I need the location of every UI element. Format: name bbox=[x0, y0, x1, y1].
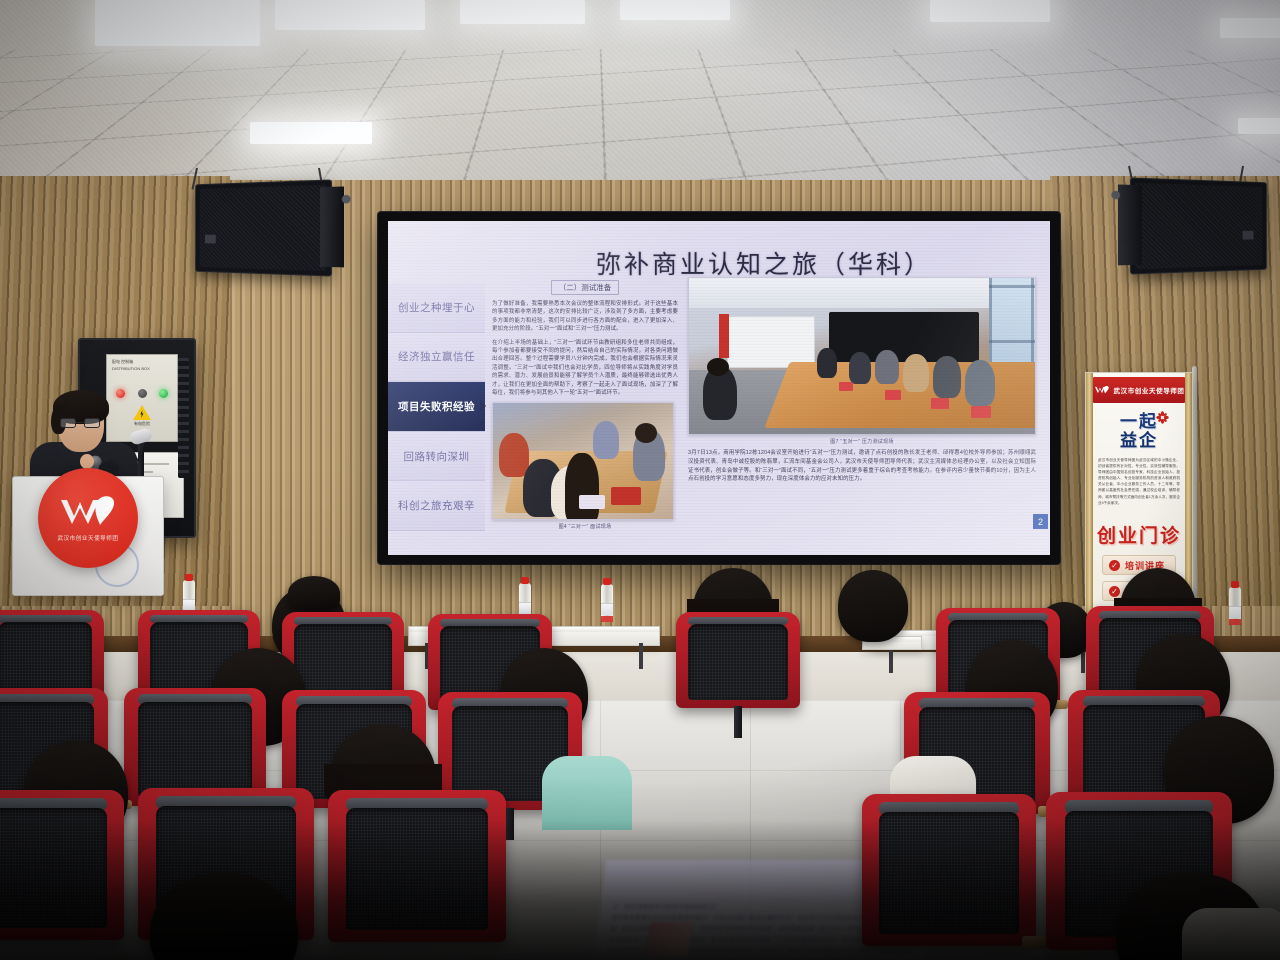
slide-paragraph-1: 为了做好准备，我需要熟悉本次会议的整体流程和安排形式。对于这些基本的事项我都非常… bbox=[492, 300, 678, 334]
auditorium-seat[interactable] bbox=[862, 794, 1036, 946]
slide-left-column: （二）测试准备 为了做好准备，我需要熟悉本次会议的整体流程和安排形式。对于这些基… bbox=[492, 277, 678, 530]
slide-paragraph-2: 在介绍上半场的基础上，“三对一”面试环节由教研组和多位老师共同组成，每个参加者都… bbox=[492, 339, 678, 398]
ceiling-light-panel bbox=[620, 0, 730, 20]
reflection-photo bbox=[646, 922, 692, 956]
check-circle-icon: ✓ bbox=[1109, 586, 1120, 597]
w-angel-wings-icon bbox=[57, 494, 119, 530]
audience-shoulder-teal bbox=[542, 756, 632, 830]
slide-surface: 弥补商业认知之旅（华科） 创业之种埋于心 经济独立赢信任 项目失败积经验 回路转… bbox=[388, 221, 1050, 555]
ceiling-light-panel bbox=[275, 0, 425, 30]
running-indicator bbox=[159, 389, 168, 398]
slide-footer-paragraph: 3月7日13点，商用学院12栋1204会议室开始进行“五对一”压力测试，邀请了点… bbox=[688, 449, 1036, 484]
slide-section-tag: （二）测试准备 bbox=[551, 280, 620, 295]
slide-photo-a-caption: 图4 “三对一” 面试现场 bbox=[492, 523, 678, 530]
banner-hero-line-2: 益企 bbox=[1120, 431, 1158, 450]
slide-photo-roundtable bbox=[492, 402, 674, 520]
banner-edge-left bbox=[1086, 373, 1093, 631]
banner-w-logo-icon bbox=[1094, 385, 1110, 395]
slide-nav-item-4[interactable]: 科创之旅充艰辛 bbox=[388, 481, 485, 531]
slide-nav-item-2[interactable]: 项目失败积经验 bbox=[388, 382, 485, 432]
cabinet-panel-subtitle: DISTRIBUTION BOX bbox=[112, 366, 150, 372]
lecture-hall-scene: 3月7日13点，商用学院12栋1204会议室开始进行“五对一”压力测试，邀请了点… bbox=[0, 0, 1280, 960]
banner-org-name: 武汉市创业天使导师团 bbox=[1114, 385, 1185, 395]
banner-body-text: 武汉市创业天使导师团为武汉区域的中小微企业、初创者提供有针对性、专业性、实效性辅… bbox=[1098, 457, 1180, 515]
ceiling-light-panel bbox=[1238, 118, 1280, 134]
slide-page-number: 2 bbox=[1033, 514, 1048, 529]
check-circle-icon: ✓ bbox=[1109, 560, 1120, 571]
ceiling-light-panel bbox=[95, 0, 260, 46]
slide-nav-item-3[interactable]: 回路转向深圳 bbox=[388, 432, 485, 482]
slide-photo-b-caption: 图7 “五对一” 压力测试现场 bbox=[688, 438, 1036, 445]
projection-screen[interactable]: 弥补商业认知之旅（华科） 创业之种埋于心 经济独立赢信任 项目失败积经验 回路转… bbox=[378, 212, 1060, 564]
cabinet-panel-title: 配电 控制箱 bbox=[112, 359, 133, 365]
auditorium-seat[interactable] bbox=[0, 790, 124, 940]
cabinet-vent bbox=[178, 358, 189, 478]
slide-section-nav: 创业之种埋于心 经济独立赢信任 项目失败积经验 回路转向深圳 科创之旅充艰辛 bbox=[388, 283, 485, 531]
slide-photo-meeting bbox=[688, 277, 1036, 435]
podium-logo-text: 武汉市创业天使导师团 bbox=[57, 534, 118, 542]
podium-logo-badge: 武汉市创业天使导师团 bbox=[38, 468, 138, 568]
wall-speaker-right bbox=[1130, 177, 1267, 274]
water-bottle[interactable] bbox=[601, 584, 613, 622]
banner-header: 武汉市创业天使导师团 bbox=[1093, 377, 1185, 403]
slide-nav-item-1[interactable]: 经济独立赢信任 bbox=[388, 333, 485, 383]
water-bottle[interactable] bbox=[1229, 587, 1241, 625]
slide-body: （二）测试准备 为了做好准备，我需要熟悉本次会议的整体流程和安排形式。对于这些基… bbox=[492, 277, 1040, 549]
slide-title: 弥补商业认知之旅（华科） bbox=[484, 245, 1044, 281]
slide-right-column: 图7 “五对一” 压力测试现场 3月7日13点，商用学院12栋1204会议室开始… bbox=[688, 277, 1036, 489]
ceiling-light-panel bbox=[930, 0, 1050, 22]
auditorium-seat[interactable] bbox=[328, 790, 506, 942]
slide-nav-item-0[interactable]: 创业之种埋于心 bbox=[388, 283, 485, 333]
presenter-glasses-icon bbox=[60, 418, 100, 428]
banner-star-icon bbox=[1156, 411, 1169, 424]
audience-head bbox=[838, 570, 908, 642]
ceiling-light-panel bbox=[250, 122, 372, 144]
ceiling-light-panel bbox=[1220, 18, 1280, 38]
ceiling-light-panel bbox=[460, 0, 585, 24]
audience-shoulder-white bbox=[1182, 908, 1280, 960]
banner-hero-line-1: 一起 bbox=[1120, 412, 1158, 431]
auditorium-seat[interactable] bbox=[676, 612, 800, 708]
audience-head bbox=[288, 576, 340, 610]
banner-subtitle: 创业门诊 bbox=[1093, 521, 1185, 548]
banner-hero: 一起 益企 bbox=[1093, 409, 1185, 453]
wall-speaker-left bbox=[195, 179, 332, 276]
